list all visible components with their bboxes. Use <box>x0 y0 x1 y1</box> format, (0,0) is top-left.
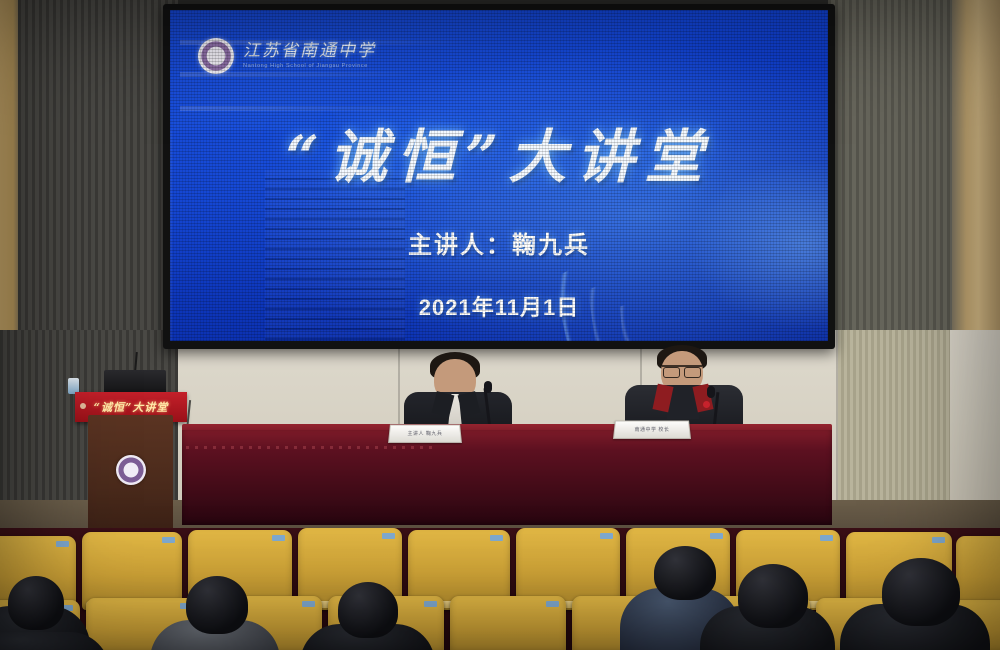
seat-number-plate <box>820 535 833 541</box>
seat <box>956 536 1000 610</box>
seat-number-plate <box>382 533 395 539</box>
table-microphone-left-head <box>484 381 492 393</box>
school-name-chinese: 江苏省南通中学 <box>243 43 376 60</box>
school-seal-icon <box>198 38 234 74</box>
audience-head <box>654 546 716 600</box>
audience-area <box>0 528 1000 650</box>
auditorium-photo: 江苏省南通中学 Nantong High School of Jiangsu P… <box>0 0 1000 650</box>
glasses-icon <box>662 365 702 376</box>
slide-date-line: 2021年11月1日 <box>170 290 828 322</box>
seat-number-plate <box>710 533 723 539</box>
podium-school-emblem-icon <box>116 455 146 485</box>
slide-speaker-line: 主讲人：鞠九兵 <box>170 225 828 260</box>
school-name-english: Nantong High School of Jiangsu Province <box>243 63 376 69</box>
lapel-badge-icon <box>703 401 710 408</box>
seat-number-plate <box>546 601 559 607</box>
table-microphone-right-head <box>707 386 715 398</box>
seat-number-plate <box>424 601 437 607</box>
nameplate-right: 南通中学 校长 <box>613 421 691 439</box>
slide-title: “诚恒”大讲堂 <box>170 110 828 194</box>
seat-number-plate <box>932 537 945 543</box>
podium-laptop <box>104 370 166 394</box>
audience-head <box>338 582 398 638</box>
podium-banner-text: “诚恒”大讲堂 <box>75 399 187 415</box>
nameplate-left: 主讲人 鞠九兵 <box>388 425 462 443</box>
audience-head <box>738 564 808 628</box>
audience-head <box>882 558 960 626</box>
seat <box>450 596 566 650</box>
seat-number-plate <box>490 535 503 541</box>
speaker-table <box>182 430 832 525</box>
slide-school-logo: 江苏省南通中学 Nantong High School of Jiangsu P… <box>198 38 376 74</box>
seat-number-plate <box>162 537 175 543</box>
seat-number-plate <box>272 535 285 541</box>
led-screen: 江苏省南通中学 Nantong High School of Jiangsu P… <box>170 10 828 341</box>
audience-head <box>186 576 248 634</box>
seat-number-plate <box>56 541 69 547</box>
audience-head <box>8 576 64 630</box>
table-skirt-trim <box>186 446 436 449</box>
seat-number-plate <box>302 601 315 607</box>
seat-number-plate <box>600 533 613 539</box>
